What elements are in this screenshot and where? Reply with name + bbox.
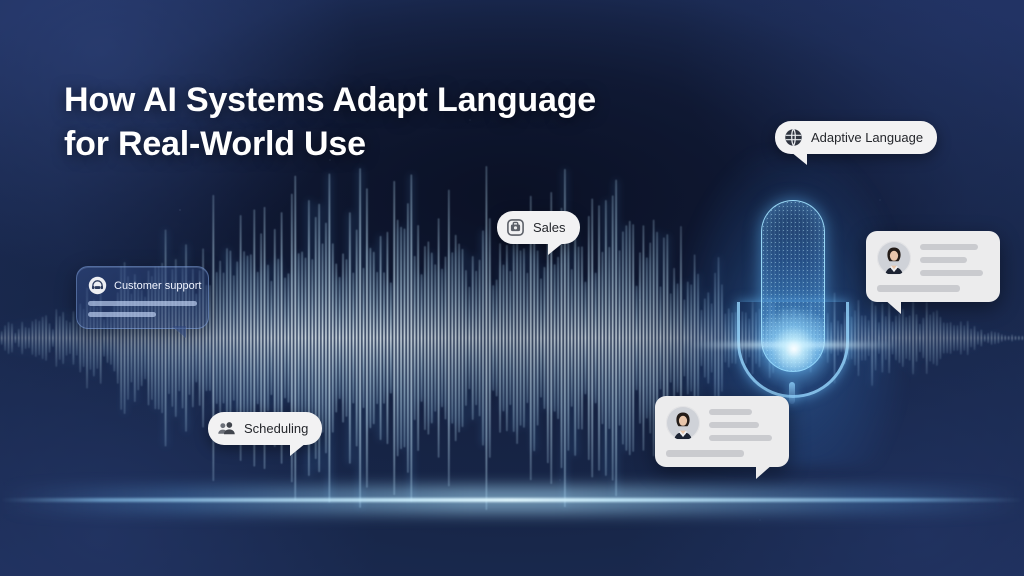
chip-scheduling-label: Scheduling [244, 421, 308, 436]
waveform-center-line [0, 498, 1024, 502]
microphone-base-flare [751, 306, 837, 392]
chip-tail [548, 242, 564, 255]
avatar [666, 406, 700, 440]
briefcase-icon [506, 218, 525, 237]
headset-icon [88, 276, 107, 295]
page-title: How AI Systems Adapt Language for Real-W… [64, 78, 744, 166]
message-line [709, 422, 759, 428]
message-line [920, 257, 967, 263]
chip-sales[interactable]: Sales [497, 211, 580, 244]
message-card-right[interactable] [866, 231, 1000, 302]
message-footer-line [666, 450, 744, 457]
customer-support-label: Customer support [114, 280, 201, 292]
message-line [920, 244, 978, 250]
message-footer-line [877, 285, 960, 292]
message-card-tail [756, 464, 773, 479]
message-card-body [877, 241, 989, 276]
message-line [920, 270, 983, 276]
placeholder-line [88, 312, 156, 317]
chip-adaptive-language[interactable]: Adaptive Language [775, 121, 937, 154]
message-line [709, 409, 752, 415]
placeholder-line [88, 301, 197, 306]
customer-support-header: Customer support [88, 276, 197, 295]
holographic-microphone [733, 196, 851, 408]
avatar [877, 241, 911, 275]
message-line-group [920, 241, 989, 276]
message-card-body [666, 406, 778, 441]
card-tail [172, 326, 186, 338]
message-card-tail [884, 299, 901, 314]
chip-adaptive-language-label: Adaptive Language [811, 130, 923, 145]
chip-scheduling[interactable]: Scheduling [208, 412, 322, 445]
users-icon [217, 419, 236, 438]
message-card-lower[interactable] [655, 396, 789, 467]
customer-support-card[interactable]: Customer support [76, 266, 209, 329]
poster-canvas: How AI Systems Adapt Language for Real-W… [0, 0, 1024, 576]
chip-sales-label: Sales [533, 220, 566, 235]
message-line-group [709, 406, 778, 441]
globe-icon [784, 128, 803, 147]
chip-tail [791, 152, 807, 165]
message-line [709, 435, 772, 441]
chip-tail [290, 443, 306, 456]
